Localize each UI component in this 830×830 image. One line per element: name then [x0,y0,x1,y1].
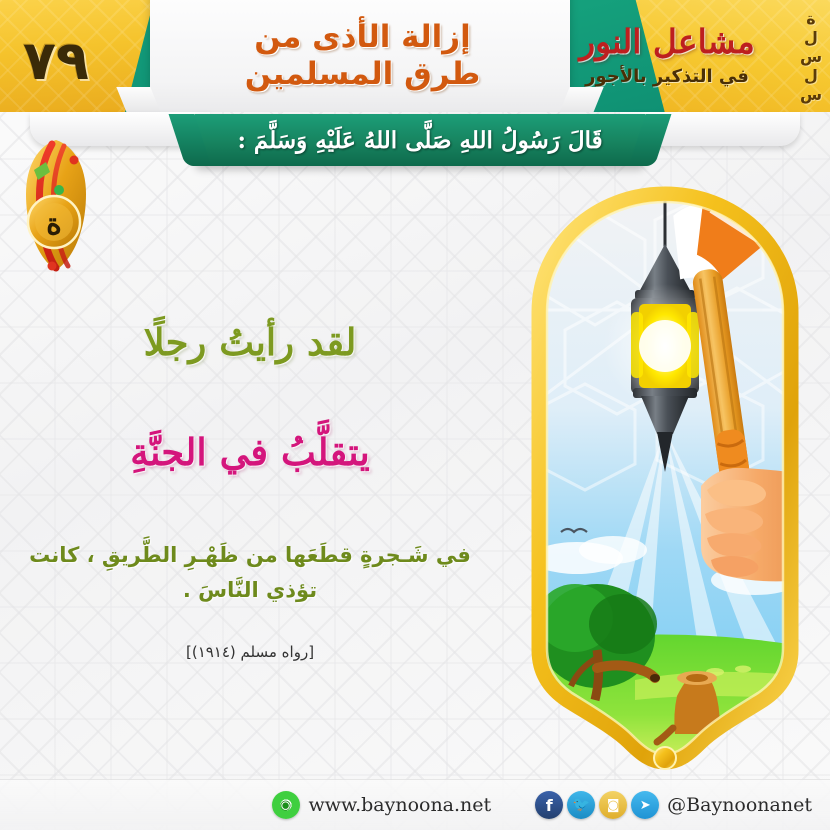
hadith-line-3: في شَـجرةٍ قطَعَها من ظَهْـرِ الطَّريقِ … [25,538,475,607]
hadith-text-block: لقد رأيتُ رجلًا يتقلَّبُ في الجنَّةِ في … [10,300,490,720]
twitter-glyph: 🐦 [572,797,589,813]
brand-logo: مشاعل النور في التذكير بالأجور [522,4,812,108]
social-links-group: f 🐦 ◙ ➤ @Baynoonanet [531,791,812,819]
brand-subtitle: في التذكير بالأجور [585,66,749,87]
hadith-line-2: يتقلَّبُ في الجنَّةِ [130,428,370,476]
instagram-glyph: ◙ [607,798,620,813]
page-title-line1: إزالة الأذى من [254,19,470,56]
social-handle[interactable]: @Baynoonanet [667,794,812,816]
illustration-panel [505,180,825,780]
telegram-glyph: ➤ [640,798,651,813]
telegram-icon[interactable]: ➤ [631,791,659,819]
issue-number: ٧٩ [4,34,108,88]
facebook-glyph: f [546,796,553,815]
infographic-card: ٧٩ إزالة الأذى من طرق المسلمين مشاعل الن… [0,0,830,830]
series-vertical-label: سلسلة [794,6,828,106]
hadith-line-1: لقد رأيتُ رجلًا [144,318,357,366]
instagram-icon[interactable]: ◙ [599,791,627,819]
svg-text:ة: ة [46,207,62,242]
ornamental-medallion-icon: ة [12,136,98,276]
chrome-browser-icon[interactable]: ◉ [272,791,300,819]
hadith-intro-banner: قَالَ رَسُولُ اللهِ صَلَّى اللهُ عَلَيْه… [195,114,645,166]
footer-bar: f 🐦 ◙ ➤ @Baynoonanet ◉ www.baynoona.net [0,779,830,830]
brand-name: مشاعل النور [579,25,755,58]
facebook-icon[interactable]: f [535,791,563,819]
page-title-line2: طرق المسلمين [245,56,481,93]
chrome-glyph: ◉ [280,798,291,813]
website-url[interactable]: www.baynoona.net [309,794,492,816]
website-group: ◉ www.baynoona.net [268,791,492,819]
page-title: إزالة الأذى من طرق المسلمين [165,6,560,106]
hadith-intro-text: قَالَ رَسُولُ اللهِ صَلَّى اللهُ عَلَيْه… [237,127,602,154]
twitter-icon[interactable]: 🐦 [567,791,595,819]
header-bar: ٧٩ إزالة الأذى من طرق المسلمين مشاعل الن… [0,0,830,112]
hadith-source-citation: [رواه مسلم (١٩١٤)] [186,643,314,661]
